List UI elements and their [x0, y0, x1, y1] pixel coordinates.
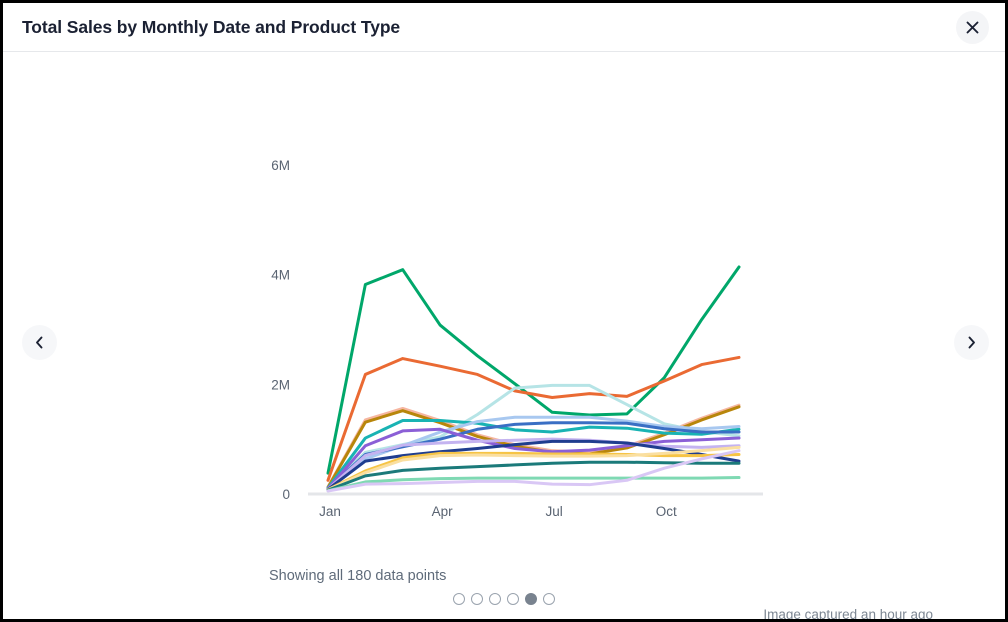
line-chart[interactable]: 02M4M6MJanAprJulOct	[3, 52, 1008, 622]
pagination-dot-3[interactable]	[489, 593, 501, 605]
page-title: Total Sales by Monthly Date and Product …	[22, 17, 400, 38]
y-axis-tick-label: 4M	[271, 268, 290, 283]
pagination-dots	[3, 593, 1005, 605]
pagination-dot-5[interactable]	[525, 593, 537, 605]
pagination-dot-2[interactable]	[471, 593, 483, 605]
close-icon[interactable]	[956, 11, 989, 44]
pagination-dot-6[interactable]	[543, 593, 555, 605]
y-axis-tick-label: 2M	[271, 377, 290, 392]
y-axis-tick-label: 6M	[271, 158, 290, 173]
x-axis-tick-label: Jan	[319, 504, 341, 519]
chart-container: 02M4M6MJanAprJulOct Showing all 180 data…	[3, 52, 1005, 622]
x-axis-tick-label: Apr	[432, 504, 454, 519]
chart-series-layer	[328, 267, 739, 491]
captured-caption: Image captured an hour ago	[763, 607, 933, 622]
y-axis-tick-label: 0	[282, 487, 290, 502]
pagination-dot-1[interactable]	[453, 593, 465, 605]
datapoints-caption: Showing all 180 data points	[269, 568, 446, 584]
modal-header: Total Sales by Monthly Date and Product …	[3, 3, 1005, 52]
modal-window: Total Sales by Monthly Date and Product …	[0, 0, 1008, 622]
x-axis-tick-label: Oct	[656, 504, 677, 519]
close-glyph	[966, 21, 979, 34]
pagination-dot-4[interactable]	[507, 593, 519, 605]
x-axis-tick-label: Jul	[546, 504, 563, 519]
